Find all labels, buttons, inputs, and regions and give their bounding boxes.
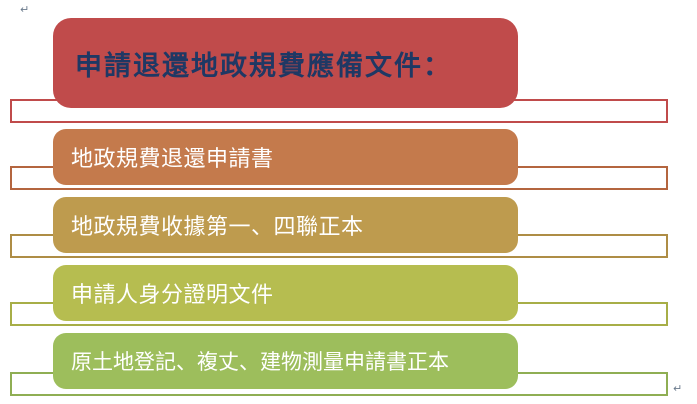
row-fill-box[interactable]: 地政規費退還申請書: [53, 129, 518, 185]
list-item-label: 原土地登記、複丈、建物測量申請書正本: [71, 346, 449, 376]
row-fill-box[interactable]: 申請人身分證明文件: [53, 265, 518, 321]
list-item-label: 地政規費退還申請書: [71, 141, 274, 173]
row-fill-box[interactable]: 原土地登記、複丈、建物測量申請書正本: [53, 333, 518, 389]
row-fill-box[interactable]: 地政規費收據第一、四聯正本: [53, 197, 518, 253]
page-title: 申請退還地政規費應備文件：: [75, 44, 452, 83]
list-item[interactable]: 地政規費收據第一、四聯正本: [0, 194, 697, 262]
list-item[interactable]: 申請退還地政規費應備文件：: [0, 0, 697, 128]
list-item[interactable]: 申請人身分證明文件: [0, 262, 697, 330]
list-item[interactable]: 原土地登記、複丈、建物測量申請書正本: [0, 330, 697, 400]
list-item-label: 地政規費收據第一、四聯正本: [71, 209, 364, 241]
list-item[interactable]: 地政規費退還申請書: [0, 128, 697, 194]
paragraph-mark-icon: ↵: [673, 383, 682, 394]
slide-canvas: ↵ 申請退還地政規費應備文件： 地政規費退還申請書 地政規費收據第一、四聯正本 …: [0, 0, 697, 404]
row-fill-box[interactable]: 申請退還地政規費應備文件：: [53, 18, 518, 108]
list-item-label: 申請人身分證明文件: [71, 277, 274, 309]
